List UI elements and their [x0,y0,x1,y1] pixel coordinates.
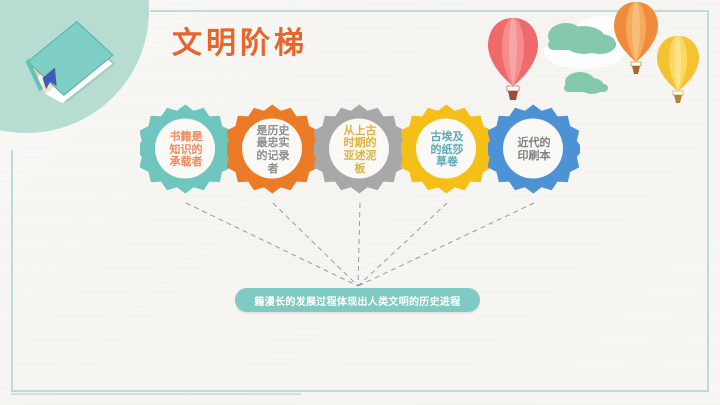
caption-label: 籍漫长的发展过程体现出人类文明的历史进程 [255,293,461,308]
book-illustration [6,8,126,118]
balloon-yellow [657,36,699,103]
badge-4-label: 古埃及 的纸莎 草卷 [401,104,493,196]
badge-row: 书籍是 知识的 承载者 是历史 最忠实 的记录 者 从上古 时期的 亚述泥 板 … [0,104,720,208]
badge-2[interactable]: 是历史 最忠实 的记录 者 [227,104,319,196]
balloon-orange [614,2,658,74]
badge-2-label: 是历史 最忠实 的记录 者 [227,104,319,196]
badge-5-label: 近代的 印刷本 [488,104,580,196]
slide-canvas: 文明阶梯 [0,0,720,405]
balloon-red [488,18,538,100]
caption-box[interactable]: 籍漫长的发展过程体现出人类文明的历史进程 [235,288,480,312]
badge-3-label: 从上古 时期的 亚述泥 板 [314,104,406,196]
page-title: 文明阶梯 [172,18,308,62]
badge-4[interactable]: 古埃及 的纸莎 草卷 [401,104,493,196]
frame-line-bottom-accent [11,393,301,395]
badge-1[interactable]: 书籍是 知识的 承载者 [140,104,232,196]
sky-decoration [488,0,720,110]
frame-line-bottom [11,390,708,392]
badge-1-label: 书籍是 知识的 承载者 [140,104,232,196]
cloud-small [564,72,608,94]
badge-3[interactable]: 从上古 时期的 亚述泥 板 [314,104,406,196]
badge-5[interactable]: 近代的 印刷本 [488,104,580,196]
